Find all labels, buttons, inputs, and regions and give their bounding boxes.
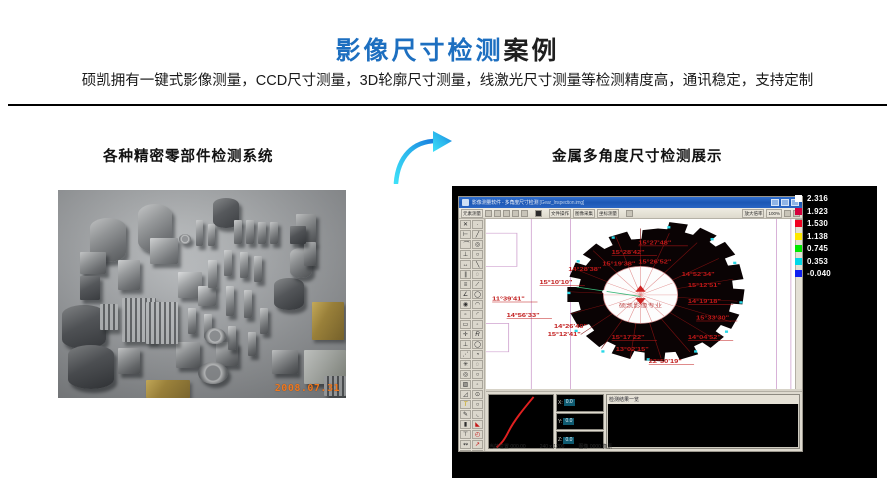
legend-value: 1.923 — [807, 207, 828, 216]
toolbar-dropdown[interactable]: 元素测量 — [461, 209, 483, 218]
parallel-icon[interactable]: ∥ — [460, 270, 471, 279]
ruler-icon[interactable]: ↭ — [460, 440, 471, 449]
maximize-icon[interactable] — [781, 199, 789, 206]
radius-icon[interactable]: Ɍ — [472, 330, 483, 339]
tool-palette[interactable]: ✕ · ⊢ ╱ ⌒ ◎ ⊥ ○ ↔ ╲ ∥ ◌ ≡ ∕ ∠ ◯ ◉ ◠ ▫ ◜ — [459, 219, 485, 451]
annotation-label: 11°39'41" — [492, 295, 525, 302]
status-item: 图像 0000 像素 — [578, 443, 612, 450]
gear-measurement-view[interactable]: 硕凯影像专业 15°27'48" — [486, 219, 795, 389]
annotation-label: 15°12'41" — [548, 331, 581, 338]
reset-icon[interactable]: ↺ — [472, 450, 483, 452]
spiral-icon[interactable]: ◯ — [472, 290, 483, 299]
legend-value: 0.353 — [807, 257, 828, 266]
distance-icon[interactable]: ↔ — [460, 260, 471, 269]
circle-icon[interactable]: ◎ — [472, 240, 483, 249]
annotation-label: 14°04'52" — [688, 334, 721, 341]
redo-icon[interactable] — [512, 210, 519, 217]
oval-icon[interactable]: ◯ — [472, 340, 483, 349]
text-icon[interactable]: T — [460, 400, 471, 409]
arc-icon[interactable]: ⌒ — [460, 240, 471, 249]
star-icon[interactable]: ✳ — [460, 360, 471, 369]
coord-axis-label: X: — [557, 400, 563, 406]
stamp-icon[interactable]: ▮ — [460, 420, 471, 429]
curved-arrow-icon — [392, 128, 472, 184]
annotation-label: 13°02'15" — [616, 346, 649, 353]
slide-root: 影像尺寸检测案例 硕凯拥有一键式影像测量，CCD尺寸测量，3D轮廓尺寸测量，线激… — [0, 0, 895, 480]
measurement-canvas[interactable]: 硕凯影像专业 15°27'48" — [486, 219, 795, 389]
cross-icon[interactable]: ✛ — [460, 330, 471, 339]
coord-axis-label: Y: — [557, 419, 562, 425]
camera-icon[interactable] — [521, 210, 528, 217]
annotation-label: 15°10'10" — [540, 279, 573, 286]
result-log-panel[interactable]: 检测结果一览 — [606, 394, 800, 449]
clock-icon[interactable]: ◴ — [472, 430, 483, 439]
scan-icon[interactable]: ↗ — [472, 440, 483, 449]
annotation-label: 15°12'51" — [688, 282, 721, 289]
window-titlebar: 影像测量软件 - 多角度尺寸检测 [Gear_Inspection.img] — [459, 197, 802, 208]
coord-row: Y: 0.0 — [556, 413, 604, 431]
legend-row: 0.353 — [795, 257, 869, 266]
square-icon[interactable]: ▫ — [460, 310, 471, 319]
zoom-label: 放大倍率 — [742, 209, 764, 218]
legend-swatch — [795, 220, 802, 227]
window-title: 影像测量软件 - 多角度尺寸检测 — [472, 200, 538, 206]
precision-parts-photo: 2008.07.31 — [58, 190, 346, 398]
annotation-label: 15°28'42" — [612, 249, 645, 256]
chamfer-icon[interactable]: ⋰ — [460, 350, 471, 359]
toolbar-group-3[interactable]: 坐标测量 — [597, 209, 619, 218]
coord-value[interactable]: 0.0 — [563, 418, 574, 425]
pen-icon[interactable]: ✎ — [460, 410, 471, 419]
legend-value: -0.040 — [807, 269, 831, 278]
sector-icon[interactable]: ◔ — [472, 350, 483, 359]
legend-value: 1.138 — [807, 232, 828, 241]
diagonal-icon[interactable]: ╲ — [472, 260, 483, 269]
software-screenshot: 影像测量软件 - 多角度尺寸检测 [Gear_Inspection.img] 元… — [452, 186, 877, 478]
legend-swatch — [795, 245, 802, 252]
legend-swatch — [795, 195, 802, 202]
annotation-label: 15°33'30" — [696, 314, 729, 321]
page-title: 影像尺寸检测案例 — [0, 31, 895, 67]
annotation-label: 15°17'22" — [612, 334, 645, 341]
window-toolbar[interactable]: 元素测量 文件操作 图像采集 坐标测量 放大倍率 100% — [459, 208, 802, 219]
grid-toggle-icon[interactable] — [626, 210, 633, 217]
coordinate-readout: X: 0.0 Y: 0.0 Z: 0.0 — [556, 394, 604, 449]
coord-value[interactable]: 0.0 — [564, 399, 575, 406]
polyline-icon[interactable]: ∕ — [472, 280, 483, 289]
fit-icon[interactable] — [784, 210, 791, 217]
open-icon[interactable] — [485, 210, 492, 217]
focus-icon[interactable]: ⊙ — [472, 390, 483, 399]
curve-icon[interactable]: ◠ — [472, 300, 483, 309]
status-item: 240 x 1200 — [540, 444, 565, 450]
app-icon — [462, 199, 469, 206]
software-window: 影像测量软件 - 多角度尺寸检测 [Gear_Inspection.img] 元… — [458, 196, 803, 452]
photo-datestamp: 2008.07.31 — [275, 383, 340, 394]
legend-value: 0.745 — [807, 244, 828, 253]
color-swatch-icon[interactable] — [535, 210, 542, 217]
legend-row: 0.745 — [795, 244, 869, 253]
legend-swatch — [795, 208, 802, 215]
legend-value: 1.530 — [807, 219, 828, 228]
annotation-label: 14°19'18" — [688, 298, 721, 305]
legend-swatch — [795, 258, 802, 265]
annotation-label: 14°52'34" — [682, 271, 715, 278]
header-divider — [8, 104, 887, 106]
lens-icon[interactable]: ◌ — [472, 360, 483, 369]
triangle-icon[interactable]: ◿ — [460, 390, 471, 399]
save-icon[interactable] — [494, 210, 501, 217]
toolbar-group-1[interactable]: 文件操作 — [549, 209, 571, 218]
annotation-label: 14°56'33" — [507, 312, 540, 319]
note-icon[interactable]: ⊤ — [460, 430, 471, 439]
minimize-icon[interactable] — [771, 199, 779, 206]
perpendicular-icon[interactable]: ⊥ — [460, 250, 471, 259]
annotation-label: 15°27'48" — [638, 239, 671, 246]
ring2-icon[interactable]: ○ — [472, 370, 483, 379]
tangent-icon[interactable]: ∠ — [460, 290, 471, 299]
legend-row: 2.316 — [795, 194, 869, 203]
status-item: 当前位置 000.00 — [489, 443, 526, 450]
circle3-icon[interactable]: ○ — [472, 400, 483, 409]
annotation-label: 22°50'19" — [649, 358, 682, 365]
undo-icon[interactable] — [503, 210, 510, 217]
annotation-label: 15°26'52" — [638, 258, 671, 265]
status-bar: 当前位置 000.00 240 x 1200 图像 0000 像素 — [486, 442, 802, 451]
legend-value: 2.316 — [807, 194, 828, 203]
flag-icon[interactable]: ◣ — [472, 420, 483, 429]
angle-icon[interactable]: ⊢ — [460, 230, 471, 239]
result-log-body[interactable] — [608, 404, 798, 447]
result-log-header: 检测结果一览 — [607, 395, 799, 404]
ring-icon[interactable]: ◌ — [472, 270, 483, 279]
legend-row: 1.138 — [795, 232, 869, 241]
window-subtitle: [Gear_Inspection.img] — [539, 200, 584, 206]
concentric-icon[interactable]: ◎ — [460, 370, 471, 379]
legend-row: -0.040 — [795, 269, 869, 278]
point-set-icon[interactable]: ◦ — [472, 320, 483, 329]
legend-swatch — [795, 270, 802, 277]
hub-watermark: 硕凯影像专业 — [619, 302, 663, 310]
legend-row: 1.923 — [795, 207, 869, 216]
legend-row: 1.530 — [795, 219, 869, 228]
coord-row: X: 0.0 — [556, 394, 604, 412]
annotation-label: 14°28'38" — [568, 266, 601, 273]
annotation-label: 14°26'40" — [554, 323, 587, 330]
zoom-value[interactable]: 100% — [766, 209, 782, 218]
laser-profile-curve — [489, 395, 553, 449]
photo-vignette — [58, 190, 346, 398]
arc3-icon[interactable]: ◟ — [472, 410, 483, 419]
pitch-icon[interactable]: ⊥ — [460, 340, 471, 349]
left-section-caption: 各种精密零部件检测系统 — [103, 145, 274, 166]
right-section-caption: 金属多角度尺寸检测展示 — [552, 145, 723, 166]
slash-icon[interactable]: ╱ — [472, 230, 483, 239]
page-subtitle: 硕凯拥有一键式影像测量，CCD尺寸测量，3D轮廓尺寸测量，线激光尺寸测量等检测精… — [0, 69, 895, 90]
hand-icon[interactable]: ✋ — [460, 450, 471, 452]
profile-preview[interactable] — [488, 394, 554, 449]
dot-icon[interactable]: ◦ — [472, 380, 483, 389]
target-icon[interactable]: ◉ — [460, 300, 471, 309]
rect-icon[interactable]: ▭ — [460, 320, 471, 329]
color-scale-legend: 2.316 1.923 1.530 1.138 0.745 0.353 — [795, 194, 869, 278]
grid-icon[interactable]: ▨ — [460, 380, 471, 389]
page-title-highlight: 影像尺寸检测 — [335, 37, 503, 65]
equal-icon[interactable]: ≡ — [460, 280, 471, 289]
point-icon[interactable]: · — [472, 220, 483, 229]
toolbar-group-2[interactable]: 图像采集 — [573, 209, 595, 218]
legend-swatch — [795, 233, 802, 240]
arc2-icon[interactable]: ◜ — [472, 310, 483, 319]
line-icon[interactable]: ✕ — [460, 220, 471, 229]
page-title-suffix: 案例 — [504, 37, 560, 65]
annotation-label: 15°19'38" — [602, 260, 635, 267]
ellipse-icon[interactable]: ○ — [472, 250, 483, 259]
